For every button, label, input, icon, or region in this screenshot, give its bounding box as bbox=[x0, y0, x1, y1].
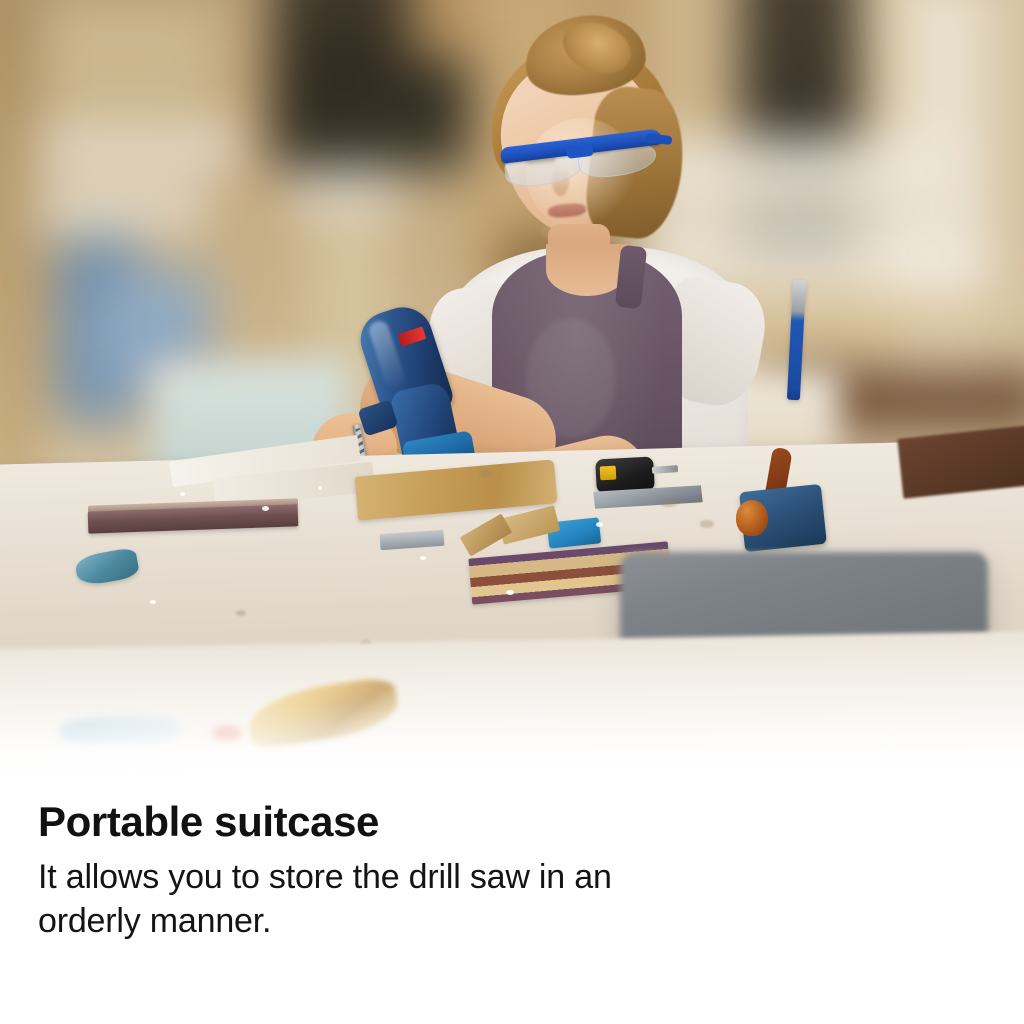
caption-title: Portable suitcase bbox=[38, 798, 379, 846]
product-feature-page: Portable suitcase It allows you to store… bbox=[0, 0, 1024, 1024]
tape-measure-window bbox=[600, 466, 617, 481]
foreground-blue-tool bbox=[60, 718, 180, 744]
hand-plane-knob bbox=[736, 500, 768, 536]
workbench-front-edge bbox=[0, 630, 1024, 790]
foreground-red-item bbox=[212, 726, 242, 742]
caption-description: It allows you to store the drill saw in … bbox=[38, 856, 698, 943]
caption-block: Portable suitcase It allows you to store… bbox=[0, 790, 1024, 1024]
product-photo bbox=[0, 0, 1024, 790]
